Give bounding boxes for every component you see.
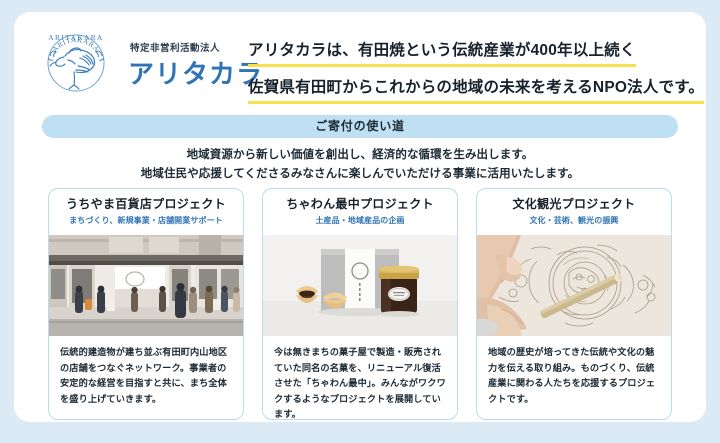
- lead-paragraph: 地域資源から新しい価値を創出し、経済的な循環を生み出します。 地域住民や応援して…: [14, 146, 706, 184]
- content-panel: ARITAKARA ARITAKARA 特定非営利活動法人 アリタカラ アリタカ…: [14, 12, 706, 422]
- card-header: 文化観光プロジェクト 文化・芸術、観光の振興: [477, 189, 671, 235]
- card-subtitle: 土産品・地域産品の企画: [263, 215, 457, 227]
- card-description: 伝統的建造物が建ち並ぶ有田町内山地区の店舗をつなぐネットワーク。事業者の安定的な…: [60, 345, 232, 407]
- card-subtitle: 文化・芸術、観光の振興: [477, 215, 671, 227]
- project-card[interactable]: ちゃわん最中プロジェクト 土産品・地域産品の企画: [262, 188, 458, 420]
- card-photo-monaka-product: [263, 235, 457, 336]
- logo-wordmark: ARITAKARA: [48, 33, 104, 42]
- donation-usage-banner: ご寄付の使い道: [42, 115, 678, 138]
- project-card[interactable]: 文化観光プロジェクト 文化・芸術、観光の振興: [476, 188, 672, 420]
- card-title: ちゃわん最中プロジェクト: [263, 196, 457, 213]
- card-header: ちゃわん最中プロジェクト 土産品・地域産品の企画: [263, 189, 457, 235]
- card-body: 伝統的建造物が建ち並ぶ有田町内山地区の店舗をつなぐネットワーク。事業者の安定的な…: [49, 336, 243, 407]
- card-description: 地域の歴史が培ってきた伝統や文化の魅力を伝える取り組み。ものづくり、伝統産業に関…: [488, 345, 660, 407]
- headline-row-2: 佐賀県有田町からこれからの地域の未来を考えるNPO法人です。: [248, 73, 708, 104]
- headline-line-1: アリタカラは、有田焼という伝統産業が400年以上続く: [248, 36, 636, 67]
- lead-line-1: 地域資源から新しい価値を創出し、経済的な循環を生み出します。: [14, 146, 706, 165]
- headline-block: アリタカラは、有田焼という伝統産業が400年以上続く 佐賀県有田町からこれからの…: [248, 36, 708, 110]
- card-photo-porcelain-painting: [477, 235, 671, 336]
- card-title: 文化観光プロジェクト: [477, 196, 671, 213]
- lead-line-2: 地域住民や応援してくださるみなさんに楽しんでいただける事業に活用いたします。: [14, 165, 706, 184]
- headline-row-1: アリタカラは、有田焼という伝統産業が400年以上続く: [248, 36, 708, 67]
- page-root: ARITAKARA ARITAKARA 特定非営利活動法人 アリタカラ アリタカ…: [0, 0, 720, 443]
- project-card[interactable]: うちやま百貨店プロジェクト まちづくり、新規事業・店舗開業サポート: [48, 188, 244, 420]
- aritakara-logo: ARITAKARA ARITAKARA: [28, 26, 124, 96]
- card-body: 地域の歴史が培ってきた伝統や文化の魅力を伝える取り組み。ものづくり、伝統産業に関…: [477, 336, 671, 407]
- page-header: ARITAKARA ARITAKARA 特定非営利活動法人 アリタカラ アリタカ…: [14, 12, 706, 100]
- card-photo-storefront: [49, 235, 243, 336]
- headline-line-2: 佐賀県有田町からこれからの地域の未来を考えるNPO法人です。: [248, 73, 704, 104]
- crane-emblem-icon: ARITAKARA ARITAKARA: [28, 26, 124, 96]
- project-card-list: うちやま百貨店プロジェクト まちづくり、新規事業・店舗開業サポート: [48, 188, 672, 420]
- banner-title: ご寄付の使い道: [42, 115, 678, 138]
- card-header: うちやま百貨店プロジェクト まちづくり、新規事業・店舗開業サポート: [49, 189, 243, 235]
- card-subtitle: まちづくり、新規事業・店舗開業サポート: [49, 215, 243, 227]
- org-type-label: 特定非営利活動法人: [130, 40, 220, 54]
- card-title: うちやま百貨店プロジェクト: [49, 196, 243, 213]
- org-name-label: アリタカラ: [128, 54, 263, 91]
- card-description: 今は無きまちの菓子屋で製造・販売されていた同名の名菓を、リニューアル復活させた「…: [274, 345, 446, 420]
- card-body: 今は無きまちの菓子屋で製造・販売されていた同名の名菓を、リニューアル復活させた「…: [263, 336, 457, 420]
